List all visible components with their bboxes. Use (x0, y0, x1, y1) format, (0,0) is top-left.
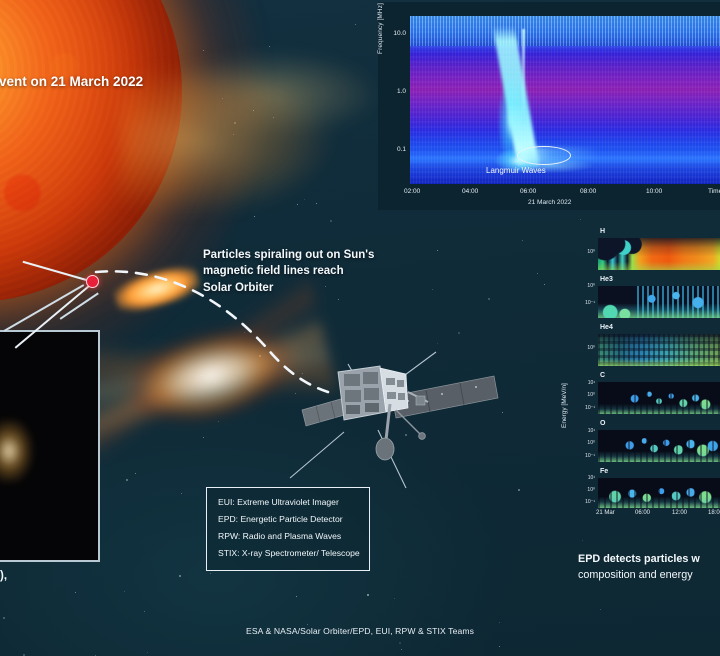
epd-ytick-fe-1: 10⁰ (579, 487, 595, 493)
langmuir-waves-ellipse-annotation (517, 146, 571, 165)
epd-ytick-o-1: 10⁰ (579, 440, 595, 446)
epd-panel-label-fe: Fe (600, 468, 608, 475)
epd-panel-c (598, 382, 720, 414)
epd-panel-o (598, 430, 720, 462)
epd-xtick-1: 06:00 (635, 510, 650, 516)
epd-ytick-c-2: 10⁻¹ (579, 405, 595, 411)
rpw-xtick-1: 04:00 (462, 188, 478, 195)
rpw-ytick-10: 10.0 (384, 30, 406, 37)
epd-y-axis-label: Energy [MeV/n] (561, 383, 568, 428)
star (399, 642, 401, 644)
epd-ytick-he4-0: 10⁰ (579, 345, 595, 351)
epd-panel-label-he4: He4 (600, 324, 613, 331)
particle-spiral-caption: Particles spiraling out on Sun's magneti… (203, 247, 374, 296)
eui-inset-image (0, 330, 100, 562)
page-title-line1: …rticle event on 21 March 2022 (0, 74, 143, 89)
rpw-xtick-2: 06:00 (520, 188, 536, 195)
rpw-y-axis-label: Frequency [MHz] (377, 3, 384, 54)
star (75, 592, 76, 593)
star (401, 649, 402, 650)
rpw-xtick-4: 10:00 (646, 188, 662, 195)
star (144, 611, 145, 612)
credits-line: ESA & NASA/Solar Orbiter/EPD, EUI, RPW &… (0, 626, 720, 636)
star (394, 598, 395, 599)
epd-ytick-o-2: 10⁻¹ (579, 453, 595, 459)
rpw-high-frequency-band (410, 16, 720, 46)
epd-panel-h (598, 238, 720, 270)
epd-ytick-fe-0: 10¹ (579, 475, 595, 481)
rpw-xtick-3: 08:00 (580, 188, 596, 195)
star (537, 273, 538, 274)
epd-panel-he4 (598, 334, 720, 366)
epd-panel-he3 (598, 286, 720, 318)
legend-item-rpw: RPW: Radio and Plasma Waves (218, 531, 360, 543)
star (600, 609, 601, 610)
star (296, 596, 297, 597)
star (522, 240, 523, 241)
epd-ytick-fe-2: 10⁻¹ (579, 499, 595, 505)
epd-panel-label-he3: He3 (600, 276, 613, 283)
star (499, 622, 500, 623)
star (488, 298, 490, 300)
star (307, 624, 308, 625)
epd-panel-fe (598, 478, 720, 508)
star (432, 289, 433, 290)
legend-item-eui: EUI: Extreme Ultraviolet Imager (218, 497, 360, 509)
star (458, 332, 460, 334)
particle-spiral-caption-line3: Solar Orbiter (203, 282, 273, 294)
langmuir-waves-label: Langmuir Waves (486, 166, 546, 175)
rpw-xtick-0: 02:00 (404, 188, 420, 195)
rpw-x-axis-label: 21 March 2022 (528, 199, 571, 206)
epd-caption: EPD detects particles w composition and … (578, 552, 700, 583)
star (518, 489, 520, 491)
star (544, 284, 545, 285)
rpw-dynamic-spectrum-chart: Frequency [MHz] 10.0 1.0 0.1 Langmuir Wa… (378, 2, 720, 210)
epd-xtick-3: 18:00 (708, 510, 720, 516)
particle-spiral-caption-line1: Particles spiraling out on Sun's (203, 249, 374, 261)
epd-panel-label-h: H (600, 228, 605, 235)
epd-ytick-he3-1: 10⁻¹ (579, 300, 595, 306)
bottom-left-caption: …ed dot), (0, 570, 7, 582)
particle-spiral-caption-line2: magnetic field lines reach (203, 265, 344, 277)
star (210, 573, 211, 574)
epd-panel-label-o: O (600, 420, 605, 427)
epd-ytick-c-1: 10⁰ (579, 392, 595, 398)
rpw-ytick-0p1: 0.1 (384, 146, 406, 153)
epd-ytick-he3-0: 10⁰ (579, 283, 595, 289)
rpw-ytick-1: 1.0 (384, 88, 406, 95)
star (355, 24, 356, 25)
epd-ytick-o-0: 10¹ (579, 428, 595, 434)
illustration-canvas: Frequency [MHz] 10.0 1.0 0.1 Langmuir Wa… (0, 0, 720, 656)
star (367, 594, 369, 596)
star (437, 343, 438, 344)
star (582, 540, 583, 541)
star (124, 591, 125, 592)
star (147, 652, 148, 653)
star (580, 219, 581, 220)
page-title: …rticle event on 21 March 2022 …d (0, 72, 143, 112)
epd-panel-label-c: C (600, 372, 605, 379)
star (3, 617, 5, 619)
epd-xtick-2: 12:00 (672, 510, 687, 516)
star (181, 493, 182, 494)
star (179, 575, 181, 577)
inset-flare-blob (0, 420, 32, 482)
legend-item-epd: EPD: Energetic Particle Detector (218, 514, 360, 526)
epd-ion-spectrogram-chart: Energy [MeV/n] H 10⁰ He3 10⁰ 10⁻¹ He4 10… (560, 228, 720, 528)
solar-orbiter-spacecraft (286, 348, 514, 498)
epd-ytick-h-0: 10⁰ (579, 249, 595, 255)
epd-caption-line1: EPD detects particles w (578, 553, 700, 565)
rpw-x-axis-name: Time (708, 188, 720, 195)
instrument-legend-box: EUI: Extreme Ultraviolet Imager EPD: Ene… (206, 487, 370, 571)
rpw-type-iii-burst-secondary (522, 29, 525, 123)
epd-xtick-0: 21 Mar (596, 510, 615, 516)
legend-item-stix: STIX: X-ray Spectrometer/ Telescope (218, 548, 360, 560)
epd-ytick-c-0: 10¹ (579, 380, 595, 386)
epd-caption-line2: composition and energy (578, 569, 693, 581)
star (499, 646, 500, 647)
